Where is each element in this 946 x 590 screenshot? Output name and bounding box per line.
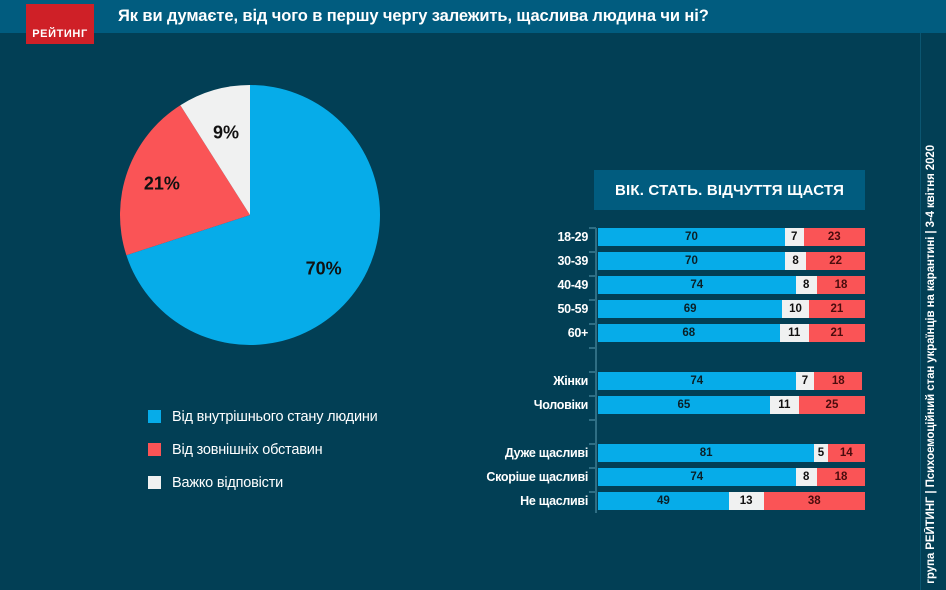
- bar-segment-blue: 65: [598, 396, 770, 414]
- bar-row: 60+681121: [420, 324, 880, 342]
- bar-segment-blue: 74: [598, 276, 796, 294]
- bar-row: Скоріше щасливі74818: [420, 468, 880, 486]
- legend-label-internal-state: Від внутрішнього стану людини: [172, 409, 378, 425]
- stacked-bar-chart: 18-297072330-397082240-497481850-5969102…: [420, 228, 880, 513]
- axis-tick: [589, 251, 596, 253]
- bar-segment-white: 13: [729, 492, 764, 510]
- page-title: Як ви думаєте, від чого в першу чергу за…: [118, 4, 888, 29]
- rating-logo-text: РЕЙТИНГ: [32, 29, 88, 40]
- bar-track: 651125: [598, 396, 865, 414]
- bar-segment-white: 10: [782, 300, 809, 318]
- bar-row: Жінки74718: [420, 372, 880, 390]
- legend-swatch-hard-to-answer: [148, 476, 161, 489]
- pie-data-label: 70%: [306, 258, 342, 278]
- bar-segment-blue: 70: [598, 228, 785, 246]
- bar-row: 40-4974818: [420, 276, 880, 294]
- bar-segment-white: 8: [785, 252, 806, 270]
- axis-tick: [589, 299, 596, 301]
- bar-row-label: 30-39: [420, 252, 588, 270]
- axis-tick: [589, 491, 596, 493]
- axis-tick: [589, 419, 596, 421]
- pie-slices: [120, 85, 380, 345]
- pie-data-label: 21%: [144, 173, 180, 193]
- bar-row-label: 18-29: [420, 228, 588, 246]
- bar-segment-white: 11: [780, 324, 809, 342]
- axis-tick: [589, 467, 596, 469]
- bar-segment-blue: 74: [598, 468, 796, 486]
- bar-segment-blue: 70: [598, 252, 785, 270]
- axis-tick: [589, 443, 596, 445]
- bar-segment-red: 21: [809, 300, 865, 318]
- pie-data-label: 9%: [213, 123, 239, 143]
- rating-logo: РЕЙТИНГ: [26, 4, 94, 44]
- bar-track: 491338: [598, 492, 865, 510]
- bar-row-label: Жінки: [420, 372, 588, 390]
- bar-track: 681121: [598, 324, 865, 342]
- bar-row: Не щасливі491338: [420, 492, 880, 510]
- bar-row: 50-59691021: [420, 300, 880, 318]
- axis-tick: [589, 227, 596, 229]
- side-caption-text: група РЕЙТИНГ | Психоемоційний стан укра…: [920, 145, 942, 584]
- bar-segment-red: 18: [817, 276, 865, 294]
- bar-segment-white: 8: [796, 276, 817, 294]
- bar-row-label: 60+: [420, 324, 588, 342]
- bar-segment-red: 18: [814, 372, 862, 390]
- bar-segment-blue: 49: [598, 492, 729, 510]
- bar-segment-red: 38: [764, 492, 865, 510]
- pie-chart: 70%21%9%: [120, 85, 380, 345]
- bar-segment-red: 22: [806, 252, 865, 270]
- bar-segment-blue: 69: [598, 300, 782, 318]
- bar-segment-white: 7: [796, 372, 815, 390]
- bar-row: 30-3970822: [420, 252, 880, 270]
- side-caption: група РЕЙТИНГ | Психоемоційний стан укра…: [920, 64, 942, 584]
- bar-row-label: Чоловіки: [420, 396, 588, 414]
- axis-tick: [589, 371, 596, 373]
- bar-segment-white: 11: [770, 396, 799, 414]
- bar-segment-white: 8: [796, 468, 817, 486]
- bar-track: 74818: [598, 468, 865, 486]
- bar-track: 691021: [598, 300, 865, 318]
- bar-row-label: 40-49: [420, 276, 588, 294]
- bar-row: 18-2970723: [420, 228, 880, 246]
- panel-title-text: ВІК. СТАТЬ. ВІДЧУТТЯ ЩАСТЯ: [615, 182, 844, 199]
- legend-swatch-external-circumstances: [148, 443, 161, 456]
- axis-tick: [589, 275, 596, 277]
- bar-track: 70822: [598, 252, 865, 270]
- bar-segment-red: 14: [828, 444, 865, 462]
- bar-track: 74818: [598, 276, 865, 294]
- panel-title-box: ВІК. СТАТЬ. ВІДЧУТТЯ ЩАСТЯ: [594, 170, 865, 210]
- axis-tick: [589, 347, 596, 349]
- axis-tick: [589, 395, 596, 397]
- bar-row-label: 50-59: [420, 300, 588, 318]
- bar-track: 70723: [598, 228, 865, 246]
- bar-segment-red: 18: [817, 468, 865, 486]
- bar-track: 74718: [598, 372, 865, 390]
- axis-tick: [589, 323, 596, 325]
- pie-chart-svg: 70%21%9%: [120, 85, 380, 345]
- bar-row-label: Скоріше щасливі: [420, 468, 588, 486]
- infographic-page: РЕЙТИНГ Як ви думаєте, від чого в першу …: [0, 0, 946, 590]
- bar-track: 81514: [598, 444, 865, 462]
- bar-segment-blue: 81: [598, 444, 814, 462]
- bar-row: Чоловіки651125: [420, 396, 880, 414]
- legend-swatch-internal-state: [148, 410, 161, 423]
- legend-label-external-circumstances: Від зовнішніх обставин: [172, 442, 322, 458]
- bar-segment-white: 7: [785, 228, 804, 246]
- bar-segment-blue: 68: [598, 324, 780, 342]
- bar-row-label: Дуже щасливі: [420, 444, 588, 462]
- bar-row-label: Не щасливі: [420, 492, 588, 510]
- bar-segment-red: 23: [804, 228, 865, 246]
- bar-segment-red: 25: [799, 396, 865, 414]
- bar-segment-blue: 74: [598, 372, 796, 390]
- bar-row: Дуже щасливі81514: [420, 444, 880, 462]
- bar-segment-white: 5: [814, 444, 827, 462]
- bar-segment-red: 21: [809, 324, 865, 342]
- legend-label-hard-to-answer: Важко відповісти: [172, 475, 283, 491]
